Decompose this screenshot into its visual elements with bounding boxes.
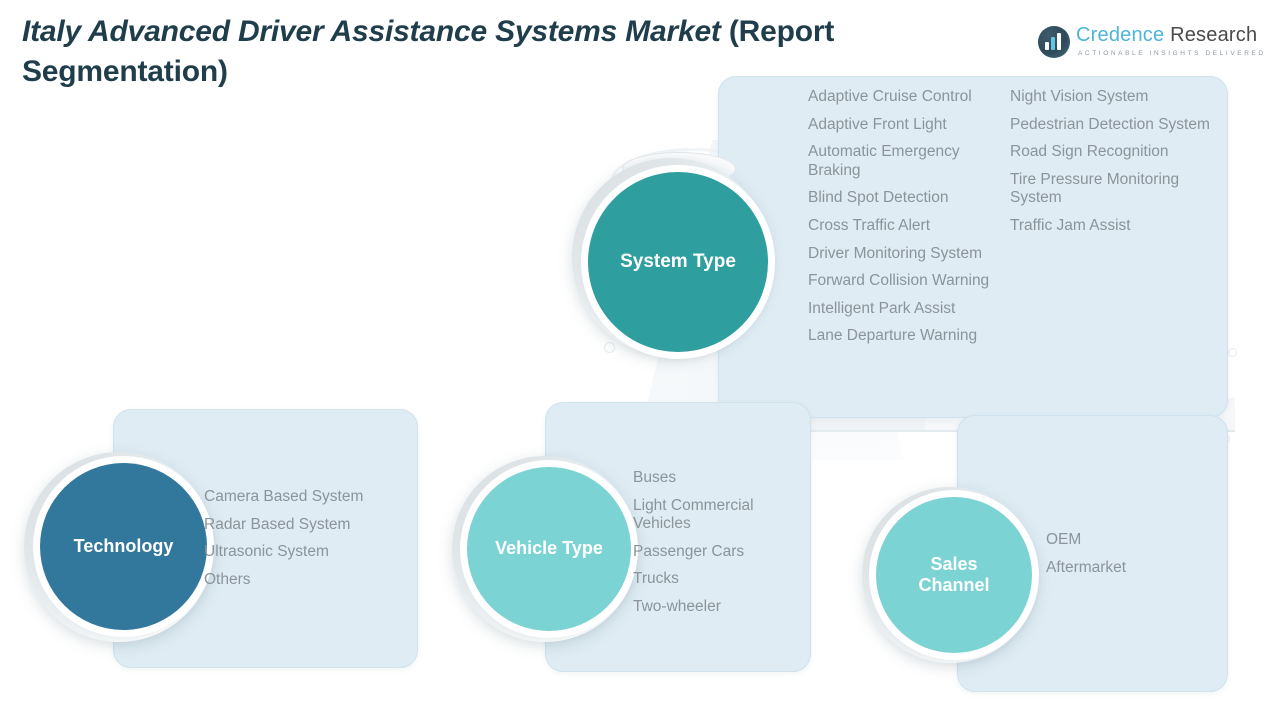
list-item: Aftermarket [1046,559,1216,578]
bar-chart-circle-icon [1038,26,1070,58]
node-vehicle-type[interactable]: Vehicle Type [452,456,648,652]
list-item: Adaptive Front Light [808,116,1013,135]
background-watermark-dot-right [1228,348,1237,357]
list-item: Night Vision System [1010,88,1210,107]
list-item: Cross Traffic Alert [808,217,1013,236]
list-item: Ultrasonic System [204,543,419,562]
list-technology: Camera Based System Radar Based System U… [204,488,419,598]
list-item: Tire Pressure Monitoring System [1010,171,1210,208]
logo-brand-primary: Credence [1076,24,1164,46]
node-vehicle-type-label: Vehicle Type [467,467,631,631]
list-system-type-column-b: Night Vision System Pedestrian Detection… [1010,88,1210,245]
list-item: Camera Based System [204,488,419,507]
credence-research-logo: Credence Research Actionable Insights De… [1038,24,1252,68]
list-system-type-column-a: Adaptive Cruise Control Adaptive Front L… [808,88,1013,355]
list-vehicle-type: Buses Light Commercial Vehicles Passenge… [633,469,808,626]
node-system-type[interactable]: System Type [572,158,782,368]
list-item: Lane Departure Warning [808,327,1013,346]
node-technology-label: Technology [40,463,207,630]
list-item: Traffic Jam Assist [1010,217,1210,236]
list-item: Trucks [633,570,808,589]
node-sales-channel[interactable]: Sales Channel [862,487,1048,673]
list-item: Two-wheeler [633,598,808,617]
list-item: Radar Based System [204,516,419,535]
list-item: Buses [633,469,808,488]
logo-tagline: Actionable Insights Delivered [1078,50,1266,57]
page-title-italic-part: Italy Advanced Driver Assistance Systems… [22,15,729,48]
node-sales-channel-label: Sales Channel [876,497,1032,653]
node-sales-channel-label-line1: Sales [930,554,977,574]
node-sales-channel-label-line2: Channel [918,575,989,595]
list-item: Forward Collision Warning [808,272,1013,291]
list-item: Driver Monitoring System [808,245,1013,264]
node-system-type-label: System Type [588,172,768,352]
list-item: Automatic Emergency Braking [808,143,1013,180]
list-item: Pedestrian Detection System [1010,116,1210,135]
list-item: Others [204,571,419,590]
list-item: Light Commercial Vehicles [633,497,808,534]
list-item: OEM [1046,531,1216,550]
list-item: Intelligent Park Assist [808,300,1013,319]
node-technology[interactable]: Technology [24,452,224,652]
list-item: Blind Spot Detection [808,189,1013,208]
list-item: Road Sign Recognition [1010,143,1210,162]
list-sales-channel: OEM Aftermarket [1046,531,1216,586]
infographic-canvas: Italy Advanced Driver Assistance Systems… [0,0,1280,720]
logo-wordmark: Credence Research [1076,24,1257,47]
list-item: Passenger Cars [633,543,808,562]
logo-brand-secondary: Research [1164,24,1257,46]
list-item: Adaptive Cruise Control [808,88,1013,107]
